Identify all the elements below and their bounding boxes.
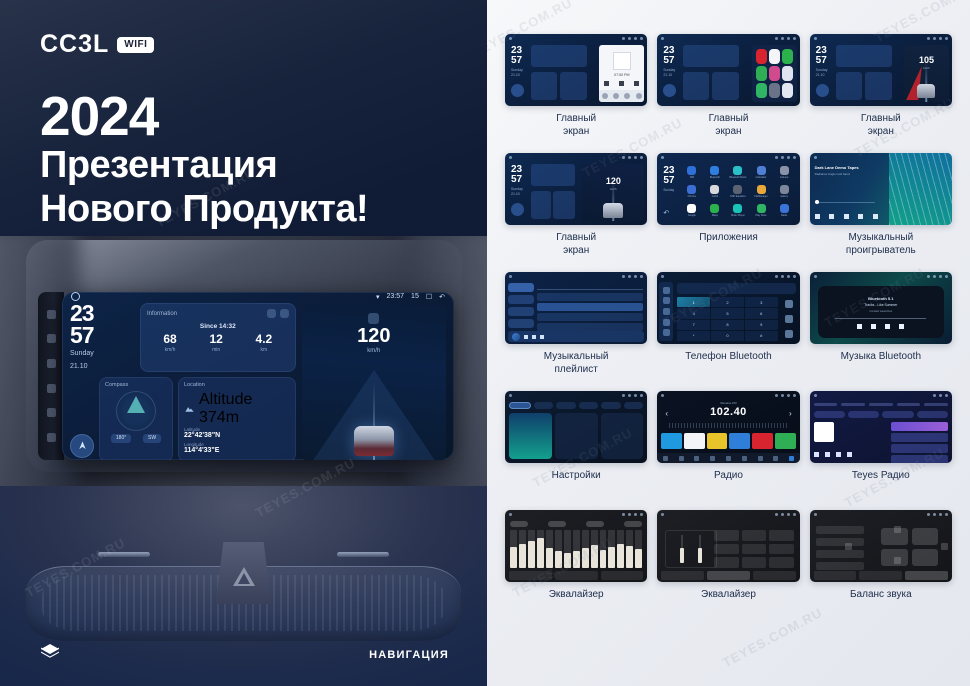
gallery-item[interactable]: 2357 Sunday ↶ SIM Bluetooth Bluetooth Mu… [657, 153, 799, 272]
vent-tab-left [98, 552, 150, 557]
hero-year: 2024 [40, 88, 368, 144]
dial-key[interactable]: 4 [677, 308, 710, 318]
equalizer-band[interactable] [510, 530, 517, 568]
thumb-info-card [531, 45, 587, 67]
clock-widget[interactable]: 23 57 Sunday 21.10 [70, 303, 132, 372]
gallery-caption: Эквалайзер [549, 589, 604, 615]
hero-headline: 2024 Презентация Нового Продукта! [40, 88, 368, 231]
data-usage-card[interactable] [555, 413, 598, 459]
car-graphic [917, 84, 935, 98]
volume-indicator[interactable]: 15 [411, 293, 419, 300]
previous-icon [814, 452, 819, 457]
preset-station[interactable] [661, 433, 682, 449]
thumb-location-card [865, 72, 892, 100]
side-key[interactable] [47, 433, 56, 442]
information-stats: 68 km/h 12 min 4.2 km [147, 333, 289, 353]
app-label: Maps [712, 214, 718, 217]
gallery-caption: Радио [714, 470, 743, 496]
head-unit-screen[interactable]: ▾ 23:57 15 ☐ ↶ 23 57 Sunday [62, 292, 454, 460]
app-tile[interactable]: Calculator [751, 164, 772, 181]
speed-gauge-icon [368, 313, 379, 324]
app-tile[interactable]: Chrome [681, 183, 702, 200]
settings-cards[interactable] [509, 413, 643, 459]
head-unit-body: 23 57 Sunday 21.10 Information [62, 301, 454, 460]
previous-icon [829, 214, 834, 219]
navigation-button[interactable] [70, 434, 94, 458]
album-art [512, 333, 520, 341]
list-item [891, 444, 948, 453]
hazard-light-button[interactable] [216, 542, 272, 604]
preset-tile [769, 557, 794, 568]
tab-balance [753, 571, 796, 580]
app-label: Camera [780, 176, 789, 179]
radio-presets[interactable] [661, 433, 795, 449]
tab-about [624, 402, 644, 409]
preset-tile [742, 544, 767, 555]
teyes-menu-row[interactable] [814, 401, 948, 407]
gallery-item[interactable]: Bluetooth 5.1 Tracks - Like Summer Conta… [810, 272, 952, 391]
navigation-arrow-icon [77, 440, 88, 451]
list-icon [694, 456, 699, 461]
preset-station[interactable] [729, 433, 750, 449]
app-label: DSP Equalizer [730, 195, 746, 198]
thumb-clock: 2357 [816, 46, 827, 65]
thumbnail-home-media[interactable]: 2357 Sunday21.10 07:50 PM [505, 34, 647, 106]
more-icon [789, 456, 794, 461]
balance-pad-icon[interactable] [881, 528, 938, 566]
app-label: Calculator [756, 176, 767, 179]
gallery-caption: Главныйэкран [709, 113, 749, 139]
thumb-media-widget: 07:50 PM [599, 45, 644, 102]
next-icon [899, 324, 904, 329]
media-controls [599, 81, 644, 86]
presentation-page: TEYES.COM.RU TEYES.COM.RU TEYES.COM.RU C… [0, 0, 970, 686]
layers-icon[interactable] [38, 641, 62, 670]
app-label: Bluetooth Music [729, 176, 746, 179]
preset-tile [742, 557, 767, 568]
thumbnail-music-player[interactable]: Dark Lane Demo Tapes Radiance Anglo rock… [810, 153, 952, 225]
clock-and-info: 23 57 Sunday 21.10 Information [70, 303, 296, 372]
speed-unit: km/h [302, 348, 446, 354]
equalizer-band[interactable] [608, 530, 615, 568]
app-tile[interactable]: Radio [774, 202, 795, 219]
track-artist: Radiance Anglo rock band [815, 172, 887, 176]
equalizer-tabs[interactable] [661, 571, 795, 580]
logo-wifi-badge: WIFI [117, 37, 154, 53]
progress-bar[interactable] [815, 202, 875, 204]
thumbnail-bluetooth-music[interactable]: Bluetooth 5.1 Tracks - Like Summer Conta… [810, 272, 952, 344]
arrow-up [894, 526, 901, 533]
location-widget[interactable]: Location Altitude 374m Latitude [178, 377, 296, 460]
expand-icon[interactable] [280, 309, 289, 318]
gallery-caption: Баланс звука [850, 589, 912, 615]
app-label: Gallery [780, 195, 788, 198]
app-tile[interactable]: Music Player [727, 202, 748, 219]
thumbnail-sound-balance[interactable] [810, 510, 952, 582]
thumbnail-equalizer-bands[interactable] [505, 510, 647, 582]
thumb-nav-button [511, 203, 524, 216]
settings-icon [663, 329, 670, 336]
thumbnail-apps[interactable]: 2357 Sunday ↶ SIM Bluetooth Bluetooth Mu… [657, 153, 799, 225]
thumb-status-bar [657, 153, 799, 161]
frequency-scale[interactable] [669, 423, 787, 428]
option-row [816, 550, 864, 558]
teyes-player [814, 422, 894, 459]
st-icon [742, 456, 747, 461]
gallery-item[interactable]: Dark Lane Demo Tapes Radiance Anglo rock… [810, 153, 952, 272]
hero-line-2: Нового Продукта! [40, 188, 368, 232]
playlist-categories[interactable] [508, 283, 534, 330]
equalizer-band[interactable] [600, 530, 607, 568]
list-item[interactable] [537, 293, 643, 301]
status-right: ▾ 23:57 15 ☐ ↶ [376, 293, 445, 301]
app-tile[interactable]: FileManager [751, 183, 772, 200]
now-playing-bar[interactable] [508, 331, 644, 342]
search-icon [663, 308, 670, 315]
app-tile[interactable]: Camera [774, 164, 795, 181]
preset-station[interactable] [707, 433, 728, 449]
thumb-speed-value: 120 [582, 176, 644, 186]
altitude-value: 374m [199, 409, 252, 427]
bt-music-card: Bluetooth 5.1 Tracks - Like Summer Conta… [818, 286, 944, 338]
dial-key[interactable]: 9 [745, 320, 778, 330]
thumb-status-bar [657, 510, 799, 518]
compass-widget[interactable]: Compass 180° SW [99, 377, 173, 460]
compass-direction: SW [143, 434, 161, 443]
left-hero-panel: TEYES.COM.RU TEYES.COM.RU TEYES.COM.RU C… [0, 0, 487, 686]
navigation-label: НАВИГАЦИЯ [369, 649, 449, 661]
thumb-nav-button [816, 84, 829, 97]
tab-balance [601, 571, 644, 580]
list-item[interactable] [537, 313, 643, 321]
thumb-status-bar [505, 510, 647, 518]
thumb-clock: 2357 [511, 46, 522, 65]
equalizer-band[interactable] [626, 530, 633, 568]
refresh-icon[interactable] [267, 309, 276, 318]
thumb-status-bar [505, 34, 647, 42]
speed-value: 120 [302, 326, 446, 346]
clock-minutes: 57 [70, 325, 132, 347]
app-label: SIM [690, 176, 694, 179]
preset-station[interactable] [752, 433, 773, 449]
media-time: 07:50 PM [599, 73, 644, 77]
tab-system [579, 402, 599, 409]
tab-balance [905, 571, 948, 580]
equalizer-band[interactable] [546, 530, 553, 568]
equalizer-band[interactable] [573, 530, 580, 568]
previous-icon [857, 324, 862, 329]
equalizer-band[interactable] [519, 530, 526, 568]
thumbnail-settings[interactable] [505, 391, 647, 463]
thumb-status-bar [657, 391, 799, 399]
radio-toolbar[interactable] [657, 453, 799, 463]
list-item[interactable] [537, 323, 643, 331]
play-pause-icon [871, 324, 876, 329]
home-left-column: 23 57 Sunday 21.10 Information [70, 303, 296, 460]
more-card[interactable] [601, 413, 644, 459]
equalizer-tabs[interactable] [509, 571, 643, 580]
track-title: Tracks - Like Summer [864, 303, 897, 307]
back-icon[interactable]: ↶ [439, 293, 445, 301]
thumb-date: Sunday21.10 [663, 68, 675, 78]
thumb-status-bar [657, 34, 799, 42]
thumb-status-bar [810, 510, 952, 518]
option-row [816, 562, 864, 570]
arrow-down [894, 557, 901, 564]
list-item [891, 422, 948, 431]
thumb-date: Sunday21.10 [816, 68, 828, 78]
thumb-location-card [553, 191, 575, 219]
arrow-left [845, 543, 852, 550]
dial-key[interactable]: 8 [711, 320, 744, 330]
speed-readout: 120 km/h [302, 313, 446, 354]
thumbnail-teyes-radio[interactable] [810, 391, 952, 463]
app-tile[interactable]: Maps [704, 202, 725, 219]
stat-value: 12 [209, 333, 222, 345]
gallery-item[interactable]: 2357 Sunday21.10 Главныйэкран [657, 34, 799, 153]
shuffle-icon [815, 214, 820, 219]
slider [681, 535, 683, 563]
previous-icon [524, 335, 528, 339]
thumb-status-bar [505, 272, 647, 280]
tab-apps [601, 402, 621, 409]
side-key[interactable] [47, 359, 56, 368]
thumbnail-equalizer-fader[interactable] [657, 510, 799, 582]
side-key[interactable] [47, 408, 56, 417]
equalizer-band[interactable] [537, 530, 544, 568]
back-icon[interactable]: ↶ [663, 209, 669, 217]
thumbnail-bluetooth-phone[interactable]: 1 2 3 4 5 6 7 8 9 * 0 # [657, 272, 799, 344]
thumbnail-radio[interactable]: Receive FM ‹ 102.40 › [657, 391, 799, 463]
dial-pad[interactable]: 1 2 3 4 5 6 7 8 9 * 0 # [677, 297, 777, 341]
next-icon [858, 214, 863, 219]
phone-actions[interactable] [781, 297, 797, 341]
stat-unit: min [209, 347, 222, 353]
preset-tile [742, 530, 767, 541]
dial-key[interactable]: 3 [745, 297, 778, 307]
gallery-caption: Настройки [552, 470, 601, 496]
stat-value: 68 [163, 333, 176, 345]
gallery-caption: Главныйэкран [556, 232, 596, 258]
stat-unit: km/h [163, 347, 176, 353]
equalizer-presets[interactable] [510, 520, 642, 528]
head-unit-side-keys[interactable] [38, 292, 64, 460]
tab-eq [661, 571, 704, 580]
slider [699, 535, 701, 563]
call-icon [785, 330, 793, 338]
information-actions[interactable] [267, 309, 289, 318]
thumbnail-home-drive-wide[interactable]: 2357 Sunday21.10 120 km/h [505, 153, 647, 225]
gallery-item[interactable]: Teyes Радио [810, 391, 952, 510]
next-icon [836, 452, 841, 457]
thumb-speed-unit: km/h [582, 187, 644, 191]
thumbnail-home-drive[interactable]: 2357 Sunday21.10 105 km/h [810, 34, 952, 106]
equalizer-band[interactable] [564, 530, 571, 568]
gallery-item[interactable]: 2357 Sunday21.10 07:50 PM Главныйэкран [505, 34, 647, 153]
clock-day: Sunday [70, 350, 132, 359]
latitude-value: 22°42'38"N [184, 432, 290, 439]
dialpad-icon [663, 287, 670, 294]
thumb-status-bar [810, 391, 952, 399]
tab-display [556, 402, 576, 409]
dial-key[interactable]: 7 [677, 320, 710, 330]
thumb-speed-value: 105 [904, 55, 949, 65]
stat-value: 4.2 [256, 333, 273, 345]
screenshot-icon[interactable]: ☐ [426, 293, 432, 301]
mountain-icon [184, 403, 195, 414]
track-info: Dark Lane Demo Tapes Radiance Anglo rock… [815, 165, 887, 176]
dial-key[interactable]: 6 [745, 308, 778, 318]
app-tile[interactable]: Carbit [704, 183, 725, 200]
equalizer-band[interactable] [555, 530, 562, 568]
tab-fader [707, 571, 750, 580]
car-graphic [354, 426, 394, 456]
app-label: Carbit [712, 195, 718, 198]
wifi-card[interactable] [509, 413, 552, 459]
information-card[interactable]: Information Since 14:32 68 [140, 303, 296, 372]
next-station-icon[interactable]: › [789, 409, 792, 418]
app-tile[interactable]: SIM [681, 164, 702, 181]
dial-key[interactable]: 1 [677, 297, 710, 307]
playback-controls[interactable] [814, 452, 894, 457]
location-title: Location [184, 382, 290, 388]
gallery-item[interactable]: 2357 Sunday21.10 120 km/h Главныйэкран [505, 153, 647, 272]
sound-effect-presets[interactable] [714, 530, 794, 568]
thumb-nav-button [511, 84, 524, 97]
gallery-caption: Музыкальныйпроигрыватель [846, 232, 916, 258]
repeat-icon [873, 214, 878, 219]
fader-sliders[interactable] [665, 530, 716, 568]
balance-options[interactable] [816, 526, 864, 568]
phone-side-nav[interactable] [659, 282, 673, 341]
altitude-row: Altitude 374m [184, 391, 290, 427]
preset-station[interactable] [775, 433, 796, 449]
app-tile[interactable]: Play Store [751, 202, 772, 219]
playback-controls[interactable] [815, 214, 878, 219]
gallery-item[interactable]: 2357 Sunday21.10 105 km/h Главныйэкран [810, 34, 952, 153]
loc-icon [726, 456, 731, 461]
thumb-status-bar [657, 272, 799, 280]
settings-tabs[interactable] [509, 402, 643, 409]
settings-icon [773, 456, 778, 461]
teyes-station-list[interactable] [891, 422, 948, 459]
teyes-filter-row[interactable] [814, 411, 948, 418]
dial-key[interactable]: 2 [711, 297, 744, 307]
stat-unit: km [256, 347, 273, 353]
thumb-location-card [560, 72, 587, 100]
app-tile[interactable]: Gallery [774, 183, 795, 200]
equalizer-band[interactable] [591, 530, 598, 568]
equalizer-band[interactable] [528, 530, 535, 568]
preset-tile [769, 530, 794, 541]
favorite-icon [847, 452, 852, 457]
tab-fader [555, 571, 598, 580]
equalizer-band[interactable] [617, 530, 624, 568]
gallery-caption: Телефон Bluetooth [685, 351, 772, 377]
band-icon [663, 456, 668, 461]
playback-controls[interactable] [857, 324, 904, 329]
preset-tile [714, 530, 739, 541]
album-art [814, 422, 834, 442]
preset-tile [714, 557, 739, 568]
thumbnail-playlist[interactable] [505, 272, 647, 344]
side-key[interactable] [47, 334, 56, 343]
equalizer-tabs[interactable] [814, 571, 948, 580]
gallery-caption: Главныйэкран [861, 113, 901, 139]
album-art [613, 52, 631, 70]
list-item [891, 433, 948, 442]
latitude-row: Latitude 22°42'38"N [184, 427, 290, 439]
backspace-icon [785, 315, 793, 323]
progress-bar[interactable] [835, 318, 926, 319]
list-header [537, 283, 643, 290]
app-label: Bluetooth [710, 176, 720, 179]
clock-date: 21.10 [70, 363, 132, 372]
thumb-clock: 2357 [663, 46, 674, 65]
media-bottom-bar [599, 90, 644, 102]
favorite-icon [785, 300, 793, 308]
equalizer-band[interactable] [582, 530, 589, 568]
pause-icon [844, 214, 849, 219]
option-row [816, 538, 864, 546]
thumb-date: Sunday21.10 [511, 187, 523, 197]
dashboard-photo: ▾ 23:57 15 ☐ ↶ 23 57 Sunday [0, 236, 487, 686]
gallery-item[interactable]: Баланс звука [810, 510, 952, 629]
thumb-clock: 2357 [663, 166, 674, 185]
track-list[interactable] [537, 283, 643, 330]
thumb-info-card [836, 45, 892, 67]
gallery-item[interactable]: Настройки [505, 391, 647, 510]
app-tile[interactable]: Bluetooth [704, 164, 725, 181]
app-tile[interactable]: DSP Equalizer [727, 183, 748, 200]
side-key[interactable] [47, 310, 56, 319]
dial-key[interactable]: * [677, 331, 710, 341]
dial-key[interactable]: # [745, 331, 778, 341]
gallery-item[interactable]: Музыкальныйплейлист [505, 272, 647, 391]
thumb-date: Sunday21.10 [511, 68, 523, 78]
dial-key[interactable]: 5 [711, 308, 744, 318]
drive-widget[interactable]: 120 km/h [302, 303, 446, 460]
preset-tile [769, 544, 794, 555]
side-key[interactable] [47, 384, 56, 393]
gallery-item[interactable]: Receive FM ‹ 102.40 › Радио [657, 391, 799, 510]
call-log-icon [663, 319, 670, 326]
app-label: Music Player [731, 214, 745, 217]
thumbnail-home-apps[interactable]: 2357 Sunday21.10 [657, 34, 799, 106]
thumb-info-card [683, 45, 739, 67]
thumb-clock: 2357 [511, 165, 522, 184]
preset-station[interactable] [684, 433, 705, 449]
gallery-item[interactable]: Эквалайзер [505, 510, 647, 629]
thumb-location-card [712, 72, 739, 100]
thumb-drive-widget: 105 km/h [904, 45, 949, 102]
dial-key[interactable]: 0 [711, 331, 744, 341]
list-item [891, 455, 948, 463]
gallery-caption: Teyes Радио [852, 470, 910, 496]
app-tile[interactable]: Google [681, 202, 702, 219]
gallery-item[interactable]: Эквалайзер [657, 510, 799, 629]
app-tile[interactable]: Bluetooth Music [727, 164, 748, 181]
app-label: FileManager [754, 195, 767, 198]
compass-rose-icon [116, 391, 156, 431]
list-item[interactable] [537, 303, 643, 311]
scan-icon [679, 456, 684, 461]
equalizer-sliders[interactable] [510, 530, 642, 568]
equalizer-band[interactable] [635, 530, 642, 568]
af-icon [758, 456, 763, 461]
number-field[interactable] [677, 283, 795, 294]
gallery-item[interactable]: 1 2 3 4 5 6 7 8 9 * 0 # Телеф [657, 272, 799, 391]
